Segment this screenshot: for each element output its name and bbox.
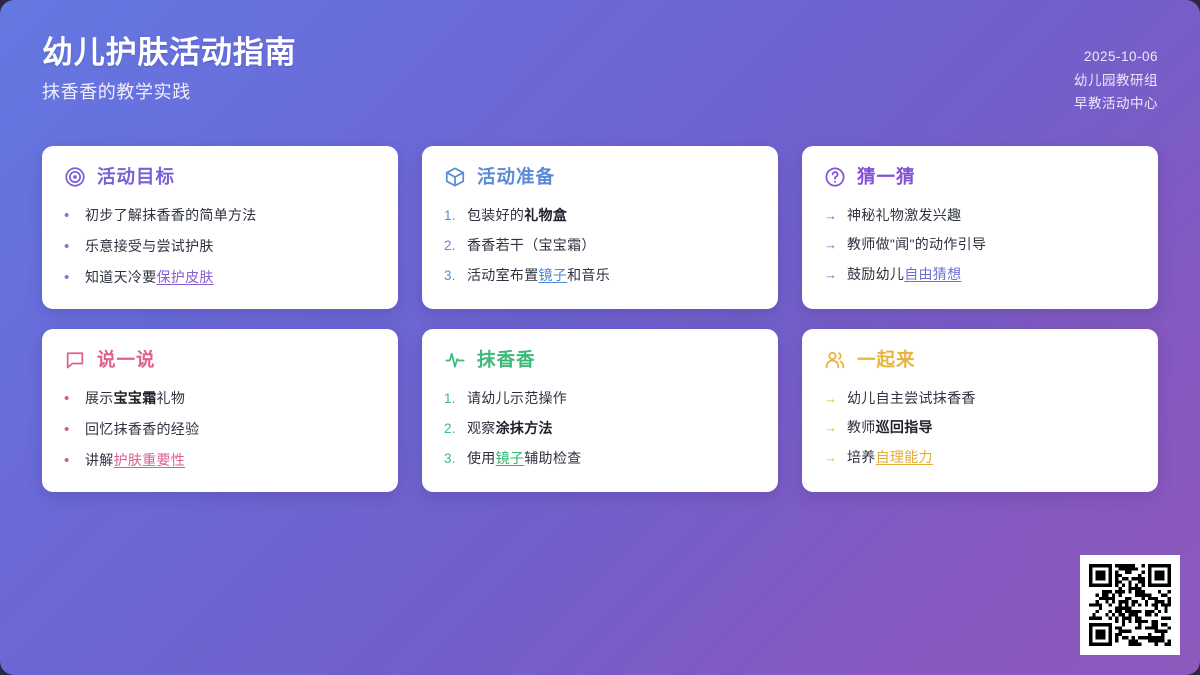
list-item-text: 包装好的礼物盒: [467, 206, 756, 225]
list-item: •展示宝宝霜礼物: [64, 383, 376, 414]
list-marker: •: [64, 268, 77, 288]
text-plain: 幼儿自主尝试抹香香: [847, 390, 976, 406]
list-item: 3.使用镜子辅助检查: [444, 443, 756, 473]
text-plain: 观察: [467, 420, 496, 436]
card-apply-cream[interactable]: 抹香香1.请幼儿示范操作2.观察涂抹方法3.使用镜子辅助检查: [422, 329, 778, 492]
card-header: 抹香香: [444, 349, 756, 371]
card-title: 猜一猜: [857, 168, 916, 187]
card-header: 一起来: [824, 349, 1136, 371]
list-item: →鼓励幼儿自由猜想: [824, 260, 1136, 290]
slide-header: 幼儿护肤活动指南 抹香香的教学实践 2025-10-06 幼儿园教研组 早教活动…: [0, 0, 1200, 133]
list-item-text: 请幼儿示范操作: [467, 389, 756, 408]
card-title: 活动准备: [477, 168, 555, 187]
list-item: •知道天冷要保护皮肤: [64, 263, 376, 294]
list-item-text: 鼓励幼儿自由猜想: [847, 265, 1136, 284]
card-item-list: 1.请幼儿示范操作2.观察涂抹方法3.使用镜子辅助检查: [444, 383, 756, 474]
speech-bubble-icon: [64, 349, 86, 371]
users-icon: [824, 349, 846, 371]
text-plain: 教师: [847, 419, 876, 435]
list-item: 2.观察涂抹方法: [444, 413, 756, 443]
page-title: 幼儿护肤活动指南: [42, 34, 296, 73]
card-header: 活动准备: [444, 166, 756, 188]
text-plain: 包装好的: [467, 207, 524, 223]
text-plain: 回忆抹香香的经验: [85, 421, 199, 437]
list-item: •回忆抹香香的经验: [64, 414, 376, 445]
text-plain: 礼物: [157, 390, 186, 406]
list-item: 1.请幼儿示范操作: [444, 383, 756, 413]
list-item: →培养自理能力: [824, 443, 1136, 473]
card-item-list: •初步了解抹香香的简单方法•乐意接受与尝试护肤•知道天冷要保护皮肤: [64, 200, 376, 294]
text-plain: 使用: [467, 450, 496, 466]
target-icon: [64, 166, 86, 188]
card-title: 抹香香: [477, 351, 536, 370]
card-grid: 活动目标•初步了解抹香香的简单方法•乐意接受与尝试护肤•知道天冷要保护皮肤活动准…: [42, 146, 1158, 492]
list-marker: 2.: [444, 237, 459, 255]
text-plain: 培养: [847, 449, 876, 465]
text-emphasis: 巡回指导: [876, 419, 933, 435]
list-item-text: 回忆抹香香的经验: [85, 420, 376, 439]
list-item: →教师巡回指导: [824, 413, 1136, 443]
list-item-text: 观察涂抹方法: [467, 419, 756, 438]
list-marker: →: [824, 266, 839, 284]
text-plain: 知道天冷要: [85, 269, 157, 285]
list-marker: 2.: [444, 420, 459, 438]
list-item-text: 香香若干（宝宝霜）: [467, 236, 756, 255]
card-header: 活动目标: [64, 166, 376, 188]
text-plain: 讲解: [85, 452, 114, 468]
list-item-text: 教师巡回指导: [847, 418, 1136, 437]
list-item: →幼儿自主尝试抹香香: [824, 383, 1136, 413]
page-subtitle: 抹香香的教学实践: [42, 82, 296, 104]
list-item: 2.香香若干（宝宝霜）: [444, 230, 756, 260]
inline-link[interactable]: 镜子: [539, 267, 568, 283]
card-header: 说一说: [64, 349, 376, 371]
card-title: 活动目标: [97, 168, 175, 187]
card-activity-goals[interactable]: 活动目标•初步了解抹香香的简单方法•乐意接受与尝试护肤•知道天冷要保护皮肤: [42, 146, 398, 309]
card-item-list: →神秘礼物激发兴趣→教师做"闻"的动作引导→鼓励幼儿自由猜想: [824, 200, 1136, 290]
slide-root: 幼儿护肤活动指南 抹香香的教学实践 2025-10-06 幼儿园教研组 早教活动…: [0, 0, 1200, 675]
card-item-list: 1.包装好的礼物盒2.香香若干（宝宝霜）3.活动室布置镜子和音乐: [444, 200, 756, 291]
list-item: •讲解护肤重要性: [64, 446, 376, 477]
card-together[interactable]: 一起来→幼儿自主尝试抹香香→教师巡回指导→培养自理能力: [802, 329, 1158, 492]
list-marker: →: [824, 449, 839, 467]
text-plain: 香香若干（宝宝霜）: [467, 237, 596, 253]
text-plain: 活动室布置: [467, 267, 539, 283]
list-item: •乐意接受与尝试护肤: [64, 231, 376, 262]
list-item-text: 展示宝宝霜礼物: [85, 389, 376, 408]
list-item: 3.活动室布置镜子和音乐: [444, 260, 756, 290]
list-item: →教师做"闻"的动作引导: [824, 230, 1136, 260]
text-plain: 乐意接受与尝试护肤: [85, 238, 214, 254]
list-item-text: 培养自理能力: [847, 448, 1136, 467]
list-item-text: 神秘礼物激发兴趣: [847, 206, 1136, 225]
list-item: 1.包装好的礼物盒: [444, 200, 756, 230]
card-header: 猜一猜: [824, 166, 1136, 188]
text-plain: 辅助检查: [524, 450, 581, 466]
header-left: 幼儿护肤活动指南 抹香香的教学实践: [42, 34, 296, 103]
list-item-text: 乐意接受与尝试护肤: [85, 237, 376, 256]
text-plain: 展示: [85, 390, 114, 406]
meta-department: 早教活动中心: [1074, 94, 1158, 114]
list-item-text: 初步了解抹香香的简单方法: [85, 206, 376, 225]
list-marker: •: [64, 451, 77, 471]
inline-link[interactable]: 自理能力: [876, 449, 933, 465]
qr-code-image: [1089, 564, 1171, 646]
list-marker: 3.: [444, 450, 459, 468]
list-item-text: 使用镜子辅助检查: [467, 449, 756, 468]
text-plain: 鼓励幼儿: [847, 266, 904, 282]
list-marker: 1.: [444, 390, 459, 408]
list-item-text: 幼儿自主尝试抹香香: [847, 389, 1136, 408]
card-title: 一起来: [857, 351, 916, 370]
list-item: •初步了解抹香香的简单方法: [64, 200, 376, 231]
card-item-list: •展示宝宝霜礼物•回忆抹香香的经验•讲解护肤重要性: [64, 383, 376, 477]
list-marker: 3.: [444, 267, 459, 285]
text-emphasis: 涂抹方法: [496, 420, 553, 436]
meta-organization: 幼儿园教研组: [1074, 71, 1158, 91]
list-marker: •: [64, 420, 77, 440]
text-plain: 教师做"闻"的动作引导: [847, 236, 986, 252]
box-icon: [444, 166, 466, 188]
card-talk-about[interactable]: 说一说•展示宝宝霜礼物•回忆抹香香的经验•讲解护肤重要性: [42, 329, 398, 492]
list-item: →神秘礼物激发兴趣: [824, 200, 1136, 230]
inline-link[interactable]: 保护皮肤: [157, 269, 214, 285]
list-marker: •: [64, 237, 77, 257]
inline-link[interactable]: 自由猜想: [904, 266, 961, 282]
card-activity-preparation[interactable]: 活动准备1.包装好的礼物盒2.香香若干（宝宝霜）3.活动室布置镜子和音乐: [422, 146, 778, 309]
list-item-text: 活动室布置镜子和音乐: [467, 266, 756, 285]
list-marker: →: [824, 236, 839, 254]
card-guess-game[interactable]: 猜一猜→神秘礼物激发兴趣→教师做"闻"的动作引导→鼓励幼儿自由猜想: [802, 146, 1158, 309]
text-plain: 神秘礼物激发兴趣: [847, 207, 961, 223]
text-emphasis: 礼物盒: [524, 207, 567, 223]
meta-date: 2025-10-06: [1084, 47, 1158, 67]
list-item-text: 知道天冷要保护皮肤: [85, 268, 376, 287]
qr-code[interactable]: [1080, 555, 1180, 655]
list-item-text: 教师做"闻"的动作引导: [847, 235, 1136, 254]
question-circle-icon: [824, 166, 846, 188]
list-marker: →: [824, 419, 839, 437]
list-marker: →: [824, 207, 839, 225]
list-item-text: 讲解护肤重要性: [85, 451, 376, 470]
text-emphasis: 宝宝霜: [114, 390, 157, 406]
inline-link[interactable]: 护肤重要性: [114, 452, 186, 468]
card-item-list: →幼儿自主尝试抹香香→教师巡回指导→培养自理能力: [824, 383, 1136, 473]
card-title: 说一说: [97, 351, 156, 370]
text-plain: 和音乐: [567, 267, 610, 283]
header-meta: 2025-10-06 幼儿园教研组 早教活动中心: [1074, 34, 1158, 114]
list-marker: •: [64, 389, 77, 409]
text-plain: 初步了解抹香香的简单方法: [85, 207, 257, 223]
list-marker: •: [64, 206, 77, 226]
activity-pulse-icon: [444, 349, 466, 371]
text-plain: 请幼儿示范操作: [467, 390, 567, 406]
list-marker: 1.: [444, 207, 459, 225]
inline-link[interactable]: 镜子: [496, 450, 525, 466]
list-marker: →: [824, 390, 839, 408]
